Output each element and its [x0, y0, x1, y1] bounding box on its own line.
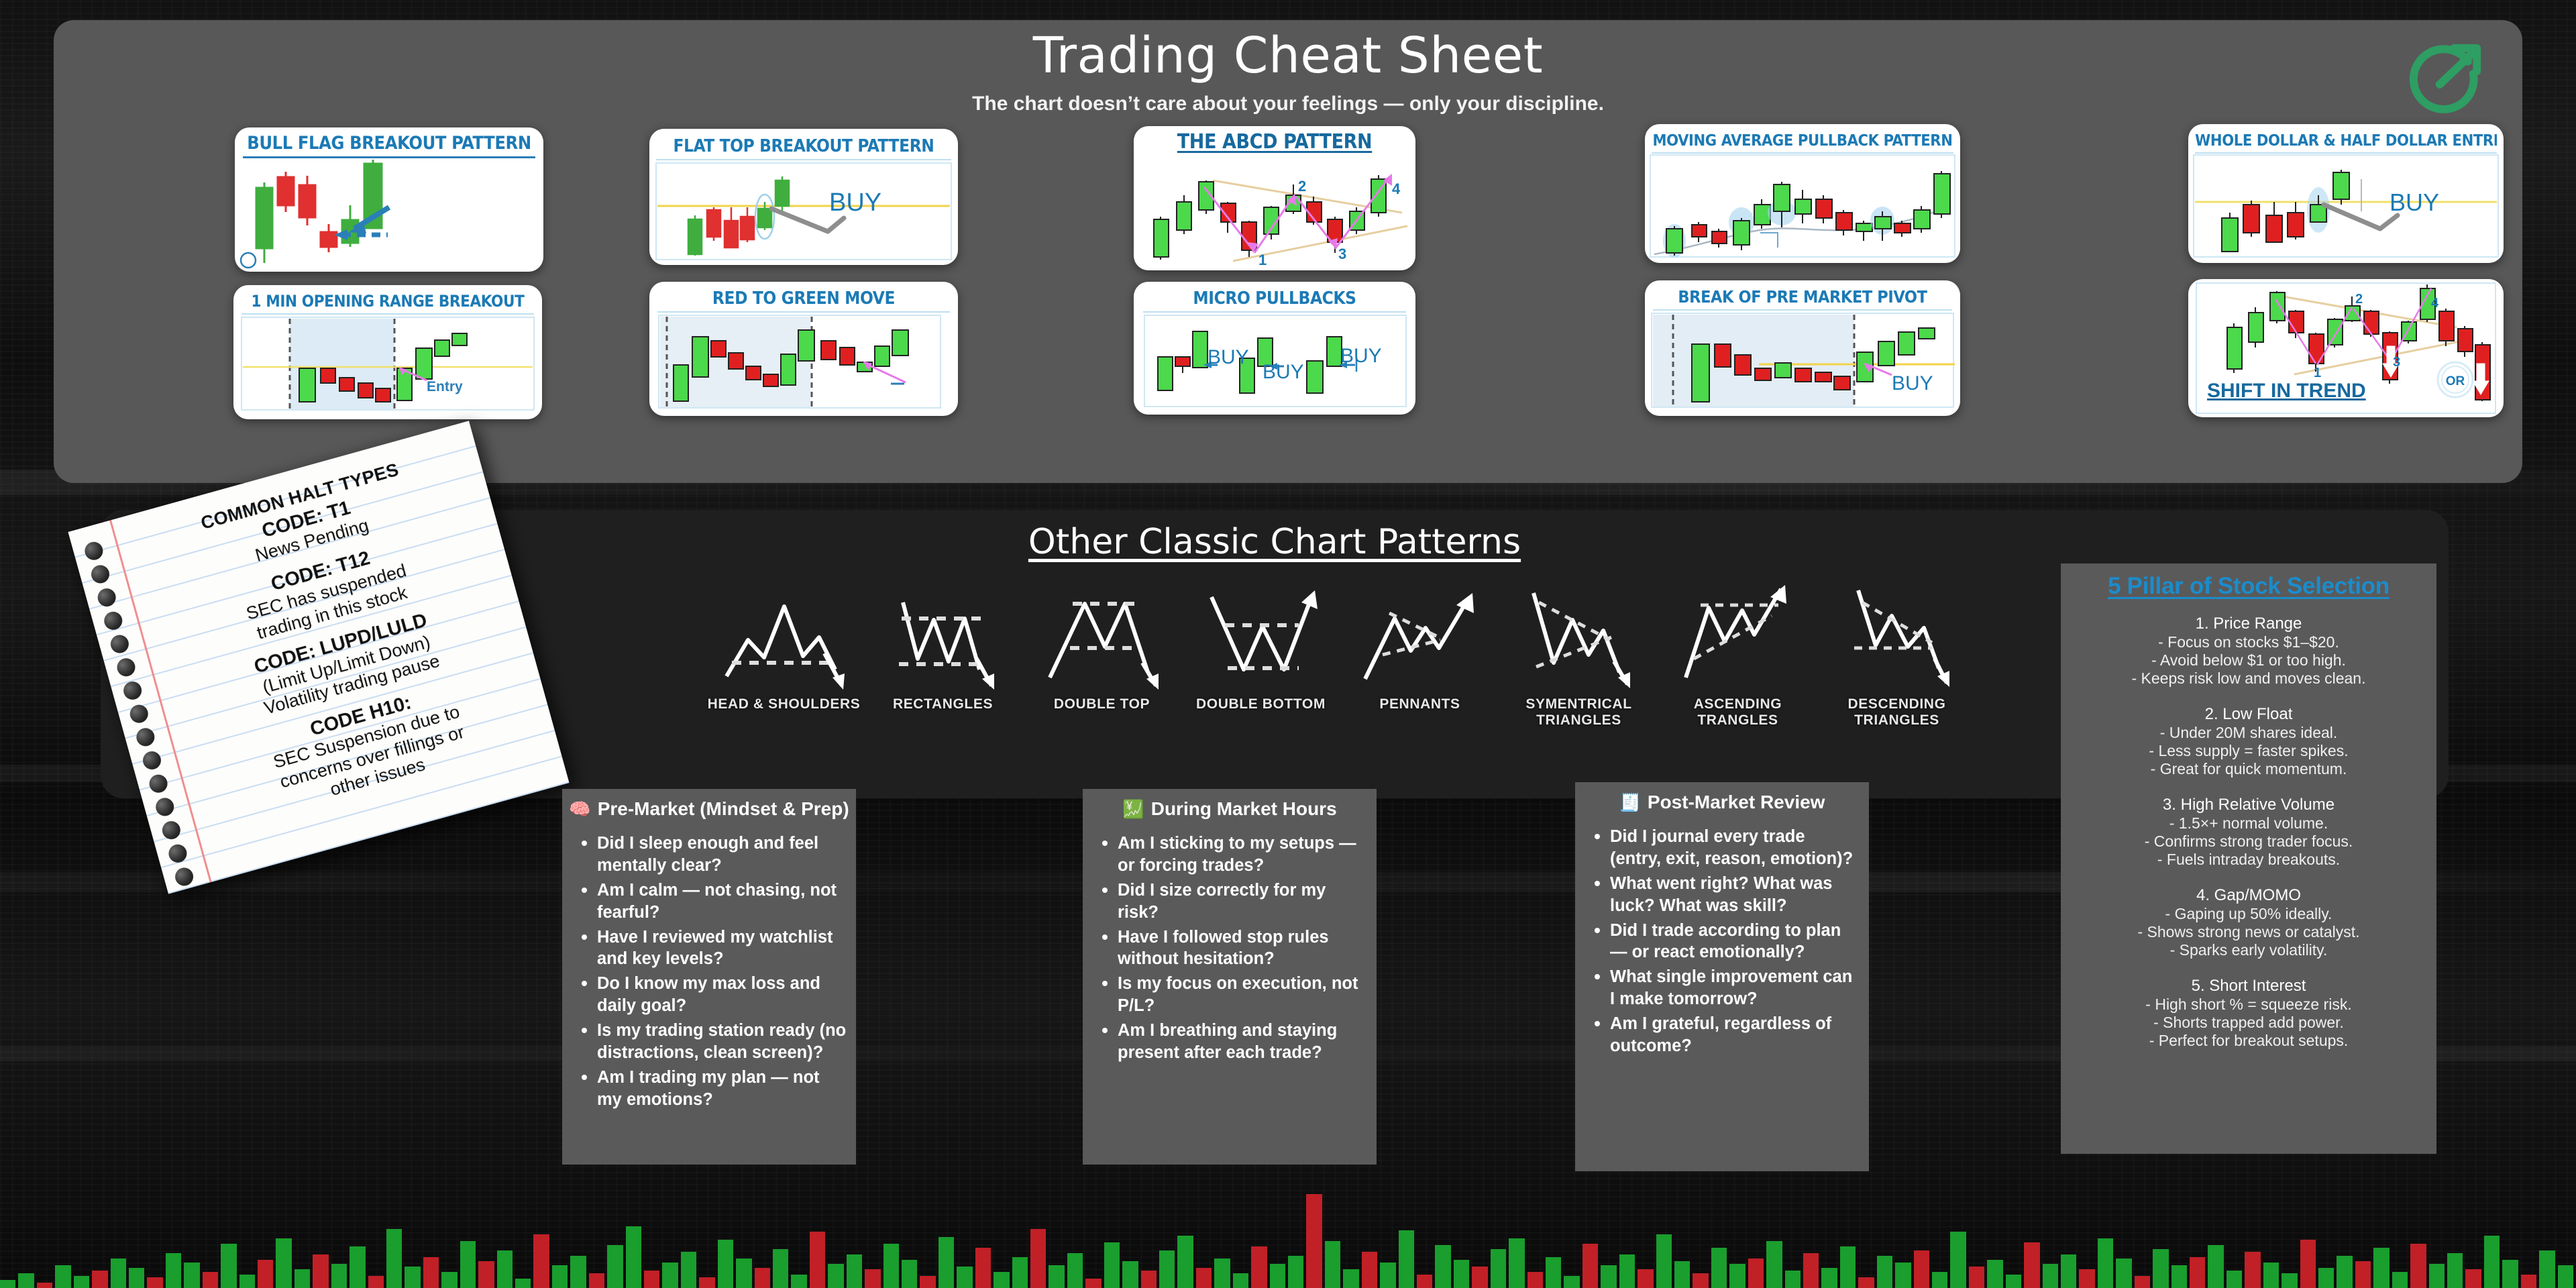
volume-bar [2355, 1261, 2371, 1288]
volume-bar [1233, 1273, 1248, 1288]
page-title: Trading Cheat Sheet [54, 20, 2522, 85]
volume-bar [1914, 1250, 1929, 1288]
pattern-card-abcd[interactable]: THE ABCD PATTERN [1134, 126, 1415, 270]
pattern-card-title: BREAK OF PRE MARKET PIVOT [1653, 282, 1952, 311]
list-item[interactable]: Am I sticking to my setups — or forcing … [1118, 832, 1377, 877]
buy-label: BUY [1207, 346, 1249, 369]
volume-bar [1159, 1250, 1175, 1288]
volume-bar [1067, 1253, 1083, 1288]
volume-bar [221, 1244, 236, 1288]
volume-bar [239, 1275, 255, 1288]
entry-label: Entry [427, 379, 463, 395]
volume-bar [570, 1256, 586, 1288]
volume-bar [368, 1276, 384, 1288]
volume-bar [460, 1241, 476, 1288]
volume-bar [331, 1264, 347, 1288]
volume-bar [2392, 1272, 2408, 1288]
chart-increasing-with-yen-icon: 💹 [1122, 800, 1144, 818]
candlestick-chart [233, 315, 542, 415]
brain-icon: 🧠 [569, 800, 590, 818]
classic-pattern-rectangles[interactable]: RECTANGLES [863, 584, 1022, 729]
classic-pattern-descending-triangles[interactable]: DESCENDING TRIANGLES [1817, 584, 1976, 729]
volume-bar [2116, 1258, 2131, 1288]
volume-bar [2318, 1268, 2334, 1288]
volume-bar [1472, 1267, 1487, 1288]
volume-bar [2245, 1252, 2260, 1288]
buy-label: BUY [1263, 361, 1304, 384]
volume-bar [2484, 1236, 2500, 1288]
volume-bar [847, 1254, 862, 1288]
volume-bar [1325, 1241, 1340, 1288]
pattern-card-premarket-pivot[interactable]: BREAK OF PRE MARKET PIVOT [1645, 280, 1960, 416]
volume-bar [2502, 1260, 2518, 1288]
volume-bar [2447, 1253, 2463, 1288]
volume-bar [1821, 1268, 1837, 1288]
volume-bar [920, 1276, 935, 1288]
volume-bar [405, 1267, 420, 1288]
pillar-line: - Shows strong news or catalyst. [2069, 923, 2428, 941]
volume-bar [1950, 1232, 1966, 1288]
list-item[interactable]: Is my trading station ready (no distract… [597, 1019, 856, 1064]
volume-bar [1012, 1257, 1028, 1288]
volume-bar [2410, 1244, 2426, 1288]
volume-bar [1122, 1261, 1138, 1288]
volume-bar [2024, 1242, 2039, 1288]
pillar-line: - Confirms strong trader focus. [2069, 833, 2428, 851]
pillar-group: 1. Price Range - Focus on stocks $1–$20.… [2069, 614, 2428, 688]
list-item[interactable]: Did I size correctly for my risk? [1118, 879, 1377, 924]
volume-bar [699, 1277, 714, 1288]
volume-bar [1785, 1271, 1801, 1288]
volume-bar [662, 1263, 678, 1288]
classic-pattern-label: SYMENTRICAL TRIANGLES [1499, 696, 1658, 729]
volume-bar [74, 1276, 89, 1288]
volume-bar [1619, 1254, 1635, 1288]
pillar-line: - 1.5×+ normal volume. [2069, 814, 2428, 833]
checklist-items: Did I sleep enough and feel mentally cle… [562, 832, 856, 1111]
checklist-title: Pre-Market (Mindset & Prep) [598, 798, 849, 820]
classic-pattern-double-top[interactable]: DOUBLE TOP [1022, 584, 1181, 729]
svg-text:2: 2 [1298, 178, 1306, 195]
pattern-card-flat-top[interactable]: FLAT TOP BREAKOUT PATTERN [649, 129, 958, 265]
pillar-line: - Great for quick momentum. [2069, 760, 2428, 778]
volume-bar [478, 1261, 494, 1288]
volume-bar [1527, 1272, 1543, 1288]
head-and-shoulders-icon [717, 584, 851, 691]
list-item[interactable]: Am I breathing and staying present after… [1118, 1019, 1377, 1064]
checklist-post-market: 🧾 Post-Market Review Did I journal every… [1575, 782, 1869, 1171]
pattern-card-ma-pullback[interactable]: MOVING AVERAGE PULLBACK PATTERN [1645, 124, 1960, 263]
list-item[interactable]: What went right? What was luck? What was… [1610, 872, 1869, 917]
checklist-header: 💹 During Market Hours [1083, 789, 1377, 822]
classic-pattern-double-bottom[interactable]: DOUBLE BOTTOM [1181, 584, 1340, 729]
buy-label: BUY [2390, 189, 2439, 217]
pattern-card-shift-in-trend[interactable]: OR 1 2 3 4 SHIFT IN TREND [2188, 279, 2504, 417]
list-item[interactable]: Did I trade according to plan — or react… [1610, 919, 1869, 964]
pillar-line: - Sparks early volatility. [2069, 941, 2428, 959]
svg-text:2: 2 [2355, 292, 2363, 307]
classic-pattern-label: DOUBLE BOTTOM [1181, 696, 1340, 712]
volume-bar [1177, 1236, 1193, 1288]
volume-bar [938, 1237, 954, 1288]
volume-bar [2282, 1273, 2297, 1288]
pillar-line: - Under 20M shares ideal. [2069, 724, 2428, 742]
volume-bar [1049, 1265, 1064, 1288]
classic-pattern-label: DOUBLE TOP [1022, 696, 1181, 712]
list-item[interactable]: Have I reviewed my watchlist and key lev… [597, 926, 856, 971]
pattern-card-whole-dollar[interactable]: WHOLE DOLLAR & HALF DOLLAR ENTRIES [2188, 124, 2504, 263]
rectangles-icon [876, 584, 1010, 691]
pillar-line: - Focus on stocks $1–$20. [2069, 633, 2428, 651]
volume-bar [1288, 1256, 1303, 1288]
double-bottom-icon [1194, 584, 1328, 691]
volume-bar [2300, 1240, 2316, 1288]
volume-bar [1417, 1275, 1432, 1288]
volume-bar [1104, 1242, 1120, 1288]
volume-bar [129, 1268, 144, 1288]
volume-bar [515, 1279, 531, 1288]
classic-pattern-label: PENNANTS [1340, 696, 1499, 712]
volume-bar [773, 1249, 788, 1288]
volume-bar [313, 1254, 328, 1288]
volume-bar [2061, 1254, 2076, 1288]
volume-bar [184, 1263, 199, 1288]
volume-bar [626, 1226, 641, 1288]
volume-bar [1546, 1257, 1561, 1288]
volume-bar [791, 1275, 806, 1288]
volume-bar [2135, 1276, 2150, 1288]
pillar-heading: 5. Short Interest [2069, 977, 2428, 996]
pattern-card-title: MOVING AVERAGE PULLBACK PATTERN [1652, 125, 1953, 154]
volume-bar [902, 1260, 917, 1288]
pillar-title: 5 Pillar of Stock Selection [2069, 573, 2428, 600]
volume-bar [2373, 1248, 2389, 1288]
volume-bar [1270, 1264, 1285, 1288]
list-item[interactable]: Did I sleep enough and feel mentally cle… [597, 832, 856, 877]
volume-bar [1362, 1252, 1377, 1288]
stock-selection-panel: 5 Pillar of Stock Selection 1. Price Ran… [2061, 563, 2436, 1154]
volume-bar [111, 1258, 126, 1288]
candlestick-chart [1645, 311, 1960, 413]
pattern-card-opening-range[interactable]: 1 MIN OPENING RANGE BREAKOUT [233, 285, 542, 419]
pillar-heading: 1. Price Range [2069, 614, 2428, 633]
volume-bar [2079, 1269, 2094, 1288]
volume-bar [2521, 1275, 2536, 1288]
volume-bar [736, 1258, 751, 1288]
pillar-heading: 2. Low Float [2069, 705, 2428, 724]
volume-bar [1693, 1273, 1708, 1288]
volume-bar [92, 1271, 107, 1288]
volume-bar [2171, 1265, 2187, 1288]
classic-pattern-ascending-triangles[interactable]: ASCENDING TRANGLES [1658, 584, 1817, 729]
pennants-icon [1353, 584, 1487, 691]
pillar-line: - Fuels intraday breakouts. [2069, 851, 2428, 869]
pillar-heading: 4. Gap/MOMO [2069, 886, 2428, 905]
growth-arrow-circle-icon [2399, 35, 2487, 123]
volume-bar [883, 1244, 899, 1288]
volume-bar [147, 1277, 162, 1288]
volume-bar [1306, 1194, 1322, 1288]
checklist-during-market: 💹 During Market Hours Am I sticking to m… [1083, 789, 1377, 1165]
list-item[interactable]: Am I grateful, regardless of outcome? [1610, 1012, 1869, 1057]
volume-bar [533, 1234, 549, 1288]
pattern-card-title: RED TO GREEN MOVE [657, 283, 950, 313]
checklist-title: During Market Hours [1151, 798, 1337, 820]
svg-text:3: 3 [1338, 246, 1346, 262]
candlestick-chart [2188, 154, 2504, 260]
pillar-line: - Avoid below $1 or too high. [2069, 651, 2428, 669]
volume-bar [2429, 1264, 2445, 1288]
list-item[interactable]: Have I followed stop rules without hesit… [1118, 926, 1377, 971]
pattern-card-title: MICRO PULLBACKS [1143, 283, 1406, 313]
buy-label: BUY [1892, 372, 1933, 395]
volume-bar [2006, 1275, 2021, 1288]
volume-bar [755, 1268, 770, 1288]
volume-bar [1196, 1268, 1212, 1288]
checklist-items: Am I sticking to my setups — or forcing … [1083, 832, 1377, 1064]
volume-bar [203, 1272, 218, 1288]
volume-bar [1030, 1229, 1046, 1288]
volume-bar [1803, 1253, 1819, 1288]
descending-triangles-icon [1830, 584, 1964, 691]
pillar-groups: 1. Price Range - Focus on stocks $1–$20.… [2069, 614, 2428, 1050]
volume-bar [1491, 1249, 1506, 1288]
volume-bar [681, 1252, 696, 1288]
pillar-heading: 3. High Relative Volume [2069, 796, 2428, 814]
double-top-icon [1035, 584, 1169, 691]
checklist-items: Did I journal every trade (entry, exit, … [1575, 825, 1869, 1057]
volume-bar [1399, 1230, 1414, 1288]
candlestick-chart [1645, 154, 1960, 260]
patterns-panel: Trading Cheat Sheet The chart doesn’t ca… [54, 20, 2522, 483]
list-item[interactable]: Am I calm — not chasing, not fearful? [597, 879, 856, 924]
volume-bar [1711, 1248, 1727, 1288]
candlestick-chart [649, 160, 958, 262]
volume-bar [1969, 1267, 1984, 1288]
volume-bar [2263, 1263, 2279, 1288]
volume-bar [1895, 1263, 1911, 1288]
volume-bar [1748, 1258, 1764, 1288]
volume-bar [2337, 1256, 2352, 1288]
volume-bar [350, 1246, 365, 1288]
svg-text:4: 4 [1392, 180, 1401, 197]
pattern-card-micro-pullbacks[interactable]: MICRO PULLBACKS [1134, 282, 1415, 415]
pillar-line: - Perfect for breakout setups. [2069, 1032, 2428, 1050]
volume-bar [718, 1240, 733, 1288]
symmetrical-triangles-icon [1512, 584, 1646, 691]
volume-bar [1141, 1271, 1157, 1288]
classic-pattern-symmetrical-triangles[interactable]: SYMENTRICAL TRIANGLES [1499, 584, 1658, 729]
volume-bar [276, 1238, 291, 1288]
volume-bar [1214, 1258, 1230, 1288]
pattern-card-title: FLAT TOP BREAKOUT PATTERN [656, 131, 951, 160]
pillar-line: - Gaping up 50% ideally. [2069, 905, 2428, 923]
svg-text:4: 4 [2431, 296, 2439, 311]
svg-text:1: 1 [2314, 366, 2321, 380]
volume-bar [1085, 1279, 1101, 1288]
page-subtitle: The chart doesn’t care about your feelin… [54, 93, 2522, 115]
pattern-card-red-to-green[interactable]: RED TO GREEN MOVE [649, 282, 958, 416]
volume-bar [37, 1283, 52, 1288]
volume-bar-strip [0, 1161, 2576, 1288]
volume-bar [441, 1272, 457, 1288]
volume-bar [1343, 1269, 1358, 1288]
pillar-group: 5. Short Interest - High short % = squee… [2069, 977, 2428, 1050]
checklist-header: 🧾 Post-Market Review [1575, 782, 1869, 816]
volume-bar [1435, 1245, 1450, 1288]
volume-bar [552, 1265, 568, 1288]
volume-bar [828, 1264, 843, 1288]
volume-bar [386, 1229, 402, 1288]
pillar-group: 4. Gap/MOMO - Gaping up 50% ideally. - S… [2069, 886, 2428, 959]
svg-text:3: 3 [2393, 355, 2400, 370]
pillar-line: - High short % = squeeze risk. [2069, 996, 2428, 1014]
list-item[interactable]: Do I know my max loss and daily goal? [597, 972, 856, 1017]
volume-bar [18, 1273, 34, 1288]
checklist-title: Post-Market Review [1648, 792, 1825, 813]
volume-bar [1564, 1276, 1579, 1288]
pillar-line: - Keeps risk low and moves clean. [2069, 669, 2428, 688]
volume-bar [2043, 1264, 2058, 1288]
volume-bar [1729, 1264, 1745, 1288]
shift-in-trend-label: SHIFT IN TREND [2207, 380, 2366, 402]
svg-text:1: 1 [1258, 252, 1267, 268]
classic-pattern-pennants[interactable]: PENNANTS [1340, 584, 1499, 729]
svg-text:OR: OR [2446, 374, 2465, 388]
volume-bar [2098, 1238, 2113, 1288]
volume-bar [975, 1248, 991, 1288]
pattern-card-title: WHOLE DOLLAR & HALF DOLLAR ENTRIES [2195, 125, 2497, 154]
volume-bar [1638, 1269, 1653, 1288]
volume-bar [2153, 1249, 2168, 1288]
list-item[interactable]: Did I journal every trade (entry, exit, … [1610, 825, 1869, 870]
volume-bar [1582, 1244, 1598, 1288]
classic-patterns-row: HEAD & SHOULDERS RECTANGLES [704, 584, 1979, 729]
volume-bar [294, 1269, 310, 1288]
pillar-line: - Less supply = faster spikes. [2069, 742, 2428, 760]
volume-bar [1509, 1238, 1524, 1288]
volume-bar [2539, 1250, 2555, 1288]
volume-bar [423, 1257, 439, 1288]
volume-bar [810, 1232, 825, 1288]
volume-bar [1766, 1241, 1782, 1288]
volume-bar [1877, 1256, 1892, 1288]
volume-bar [2558, 1265, 2573, 1288]
volume-bar [166, 1253, 181, 1288]
volume-bar [55, 1265, 70, 1288]
volume-bar [1858, 1277, 1874, 1288]
buy-label: BUY [1340, 345, 1382, 368]
ascending-triangles-icon [1671, 584, 1805, 691]
volume-bar [644, 1271, 659, 1288]
classic-pattern-head-and-shoulders[interactable]: HEAD & SHOULDERS [704, 584, 863, 729]
volume-bar [607, 1245, 623, 1288]
volume-bar [957, 1267, 972, 1288]
halt-types-note: COMMON HALT TYPES CODE: T1 News Pending … [68, 421, 569, 894]
pillar-group: 2. Low Float - Under 20M shares ideal. -… [2069, 705, 2428, 778]
volume-bar [2190, 1257, 2205, 1288]
list-item[interactable]: What single improvement can I make tomor… [1610, 965, 1869, 1010]
volume-bar [1840, 1246, 1856, 1288]
classic-pattern-label: DESCENDING TRIANGLES [1817, 696, 1976, 729]
volume-bar [2226, 1271, 2242, 1288]
classic-pattern-label: HEAD & SHOULDERS [704, 696, 863, 712]
volume-bar [2208, 1245, 2223, 1288]
pattern-card-title: THE ABCD PATTERN [1134, 126, 1415, 155]
volume-bar [1380, 1263, 1395, 1288]
volume-bar [2465, 1269, 2481, 1288]
volume-bar [1656, 1234, 1672, 1288]
volume-bar [589, 1273, 604, 1288]
candlestick-chart: 1 2 3 4 [1134, 155, 1415, 268]
buy-label: BUY [829, 189, 881, 217]
receipt-icon: 🧾 [1619, 794, 1641, 811]
volume-bar [1454, 1260, 1469, 1288]
candlestick-chart [235, 158, 543, 270]
volume-bar [497, 1250, 513, 1288]
volume-bar [865, 1269, 880, 1288]
volume-bar [1601, 1265, 1616, 1288]
volume-bar [1987, 1260, 2002, 1288]
pillar-line: - Shorts trapped add power. [2069, 1014, 2428, 1032]
pattern-card-bull-flag[interactable]: BULL FLAG BREAKOUT PATTERN [235, 127, 543, 272]
candlestick-chart [649, 313, 958, 413]
pattern-card-title: 1 MIN OPENING RANGE BREAKOUT [241, 286, 534, 315]
classic-pattern-label: ASCENDING TRANGLES [1658, 696, 1817, 729]
checklist-header: 🧠 Pre-Market (Mindset & Prep) [562, 789, 856, 822]
volume-bar [0, 1280, 15, 1288]
pillar-group: 3. High Relative Volume - 1.5×+ normal v… [2069, 796, 2428, 869]
classic-pattern-label: RECTANGLES [863, 696, 1022, 712]
list-item[interactable]: Is my focus on execution, not P/L? [1118, 972, 1377, 1017]
cheatsheet-canvas: Trading Cheat Sheet The chart doesn’t ca… [0, 0, 2576, 1288]
volume-bar [1251, 1246, 1267, 1288]
volume-bar [258, 1260, 273, 1288]
volume-bar [1932, 1272, 1947, 1288]
volume-bar [994, 1272, 1009, 1288]
volume-bar [1674, 1261, 1690, 1288]
checklist-pre-market: 🧠 Pre-Market (Mindset & Prep) Did I slee… [562, 789, 856, 1165]
list-item[interactable]: Am I trading my plan — not my emotions? [597, 1066, 856, 1111]
pattern-card-title: BULL FLAG BREAKOUT PATTERN [243, 127, 535, 158]
